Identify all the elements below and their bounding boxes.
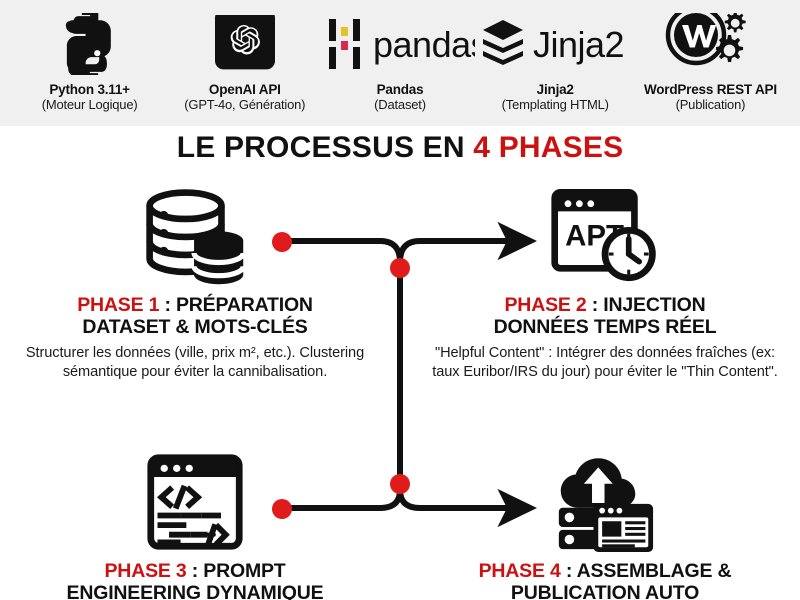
phase-1-title: PHASE 1 : PRÉPARATION xyxy=(77,294,313,316)
code-window-icon xyxy=(144,450,246,554)
phase-4-title: PHASE 4 : ASSEMBLAGE & xyxy=(479,560,732,582)
tech-sub: (GPT-4o, Génération) xyxy=(184,97,305,112)
phase-4-sep: : xyxy=(561,560,577,582)
node-junction-bottom xyxy=(390,474,410,494)
phase-block-4: PHASE 4 : ASSEMBLAGE & PUBLICATION AUTO xyxy=(420,450,790,600)
tech-item-openai: OpenAI API (GPT-4o, Génération) xyxy=(167,0,322,112)
tech-sub: (Dataset) xyxy=(374,97,426,112)
node-junction-top xyxy=(390,258,410,278)
phase-block-1: PHASE 1 : PRÉPARATION DATASET & MOTS-CLÉ… xyxy=(10,184,380,382)
tech-sub: (Moteur Logique) xyxy=(42,97,138,112)
page-title-accent: 4 PHASES xyxy=(473,131,623,164)
cloud-upload-server-icon xyxy=(550,450,660,554)
svg-text:Jinja2: Jinja2 xyxy=(533,24,624,65)
browser-clock-api-icon: APT xyxy=(549,184,661,288)
svg-text:pandas: pandas xyxy=(373,24,475,65)
tech-stack-band: Python 3.11+ (Moteur Logique) OpenAI API… xyxy=(0,0,800,126)
phase-3-title-line2: ENGINEERING DYNAMIQUE xyxy=(67,582,324,600)
database-stack-icon xyxy=(143,184,247,288)
phase-1-description: Structurer les données (ville, prix m², … xyxy=(10,344,380,383)
phase-2-description: "Helpful Content" : Intégrer des données… xyxy=(420,344,790,383)
phase-2-title-line2: DONNÉES TEMPS RÉEL xyxy=(494,316,717,339)
tech-sub: (Publication) xyxy=(676,97,746,112)
tech-name: Python 3.11+ xyxy=(49,82,130,97)
tech-item-wordpress: WordPress REST API (Publication) xyxy=(633,0,788,112)
tech-name: Pandas xyxy=(377,82,424,97)
phase-1-label: PHASE 1 xyxy=(77,294,159,316)
phase-1-sep: : xyxy=(159,294,176,316)
tech-item-jinja2: Jinja2 Jinja2 (Templating HTML) xyxy=(478,0,633,112)
phase-2-title: PHASE 2 : INJECTION xyxy=(505,294,706,316)
phase-block-2: APT PHASE 2 : INJECTION DONNÉES TEMPS RÉ… xyxy=(420,184,790,382)
phase-block-3: PHASE 3 : PROMPT ENGINEERING DYNAMIQUE xyxy=(10,450,380,600)
phase-2-label: PHASE 2 xyxy=(505,294,587,316)
python-logo-icon xyxy=(59,13,121,75)
phase-3-sep: : xyxy=(187,560,204,582)
tech-item-pandas: pandas Pandas (Dataset) xyxy=(322,0,477,112)
phase-4-title-rest: ASSEMBLAGE & xyxy=(577,560,732,582)
phase-4-label: PHASE 4 xyxy=(479,560,561,582)
tech-name: OpenAI API xyxy=(209,82,281,97)
phase-1-title-rest: PRÉPARATION xyxy=(176,294,313,316)
wordpress-logo-icon xyxy=(662,13,758,75)
jinja2-logo-icon: Jinja2 xyxy=(481,13,629,75)
phase-4-title-line2: PUBLICATION AUTO xyxy=(511,582,699,600)
phase-3-title-rest: PROMPT xyxy=(203,560,285,582)
pandas-logo-icon: pandas xyxy=(325,13,475,75)
phase-2-title-rest: INJECTION xyxy=(603,294,705,316)
phase-3-title: PHASE 3 : PROMPT xyxy=(105,560,286,582)
page-title-lead: LE PROCESSUS EN xyxy=(177,131,474,164)
tech-name: WordPress REST API xyxy=(644,82,777,97)
infographic-page: Python 3.11+ (Moteur Logique) OpenAI API… xyxy=(0,0,800,600)
phase-2-sep: : xyxy=(587,294,604,316)
phase-1-title-line2: DATASET & MOTS-CLÉS xyxy=(82,316,307,339)
tech-name: Jinja2 xyxy=(537,82,574,97)
page-title: LE PROCESSUS EN 4 PHASES xyxy=(0,131,800,165)
phase-3-label: PHASE 3 xyxy=(105,560,187,582)
tech-sub: (Templating HTML) xyxy=(502,97,609,112)
openai-logo-icon xyxy=(215,13,275,75)
tech-item-python: Python 3.11+ (Moteur Logique) xyxy=(12,0,167,112)
